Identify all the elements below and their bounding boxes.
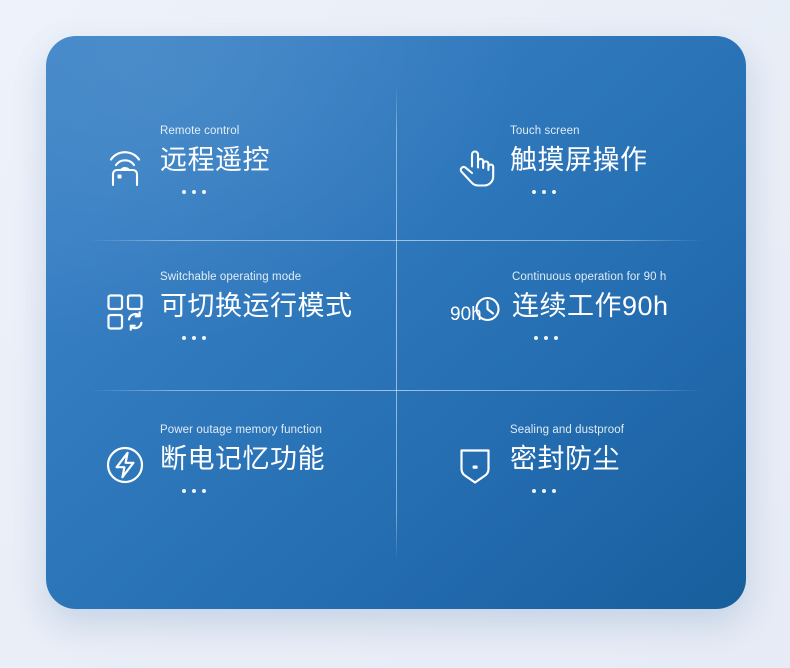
feature-item-power-outage-memory[interactable]: Power outage memory function 断电记忆功能 [46,390,396,609]
remote-control-icon [98,141,152,191]
feature-label-cn: 触摸屏操作 [510,142,648,178]
shield-dustproof-icon [448,440,502,490]
feature-item-remote-control[interactable]: Remote control 远程遥控 [46,36,396,240]
feature-label-cn: 密封防尘 [510,441,624,477]
feature-dots [534,336,669,340]
feature-item-switchable-mode[interactable]: Switchable operating mode 可切换运行模式 [46,240,396,390]
feature-label-en: Remote control [160,124,270,138]
feature-label-cn: 远程遥控 [160,142,270,178]
feature-label-en: Touch screen [510,124,648,138]
switch-mode-grid-icon [98,287,152,337]
feature-dots [532,489,624,493]
feature-grid: Remote control 远程遥控 [46,36,746,609]
feature-label-en: Switchable operating mode [160,270,353,284]
clock-90h-icon: 90h [448,287,506,337]
feature-dots [532,190,648,194]
touch-hand-icon [448,141,502,191]
feature-label-en: Power outage memory function [160,423,325,437]
feature-dots [182,336,353,340]
feature-item-touch-screen[interactable]: Touch screen 触摸屏操作 [396,36,746,240]
feature-dots [182,489,325,493]
power-bolt-circle-icon [98,440,152,490]
feature-label-cn: 可切换运行模式 [160,288,353,324]
feature-card: Remote control 远程遥控 [46,36,746,609]
feature-item-sealing-dustproof[interactable]: Sealing and dustproof 密封防尘 [396,390,746,609]
feature-label-cn: 断电记忆功能 [160,441,325,477]
feature-label-en: Continuous operation for 90 h [512,270,669,284]
feature-dots [182,190,270,194]
feature-label-cn: 连续工作90h [512,288,669,324]
page-root: Remote control 远程遥控 [0,0,790,668]
feature-label-en: Sealing and dustproof [510,423,624,437]
feature-item-continuous-90h[interactable]: 90h Continuous operation for 90 h 连续工作90… [396,240,746,390]
